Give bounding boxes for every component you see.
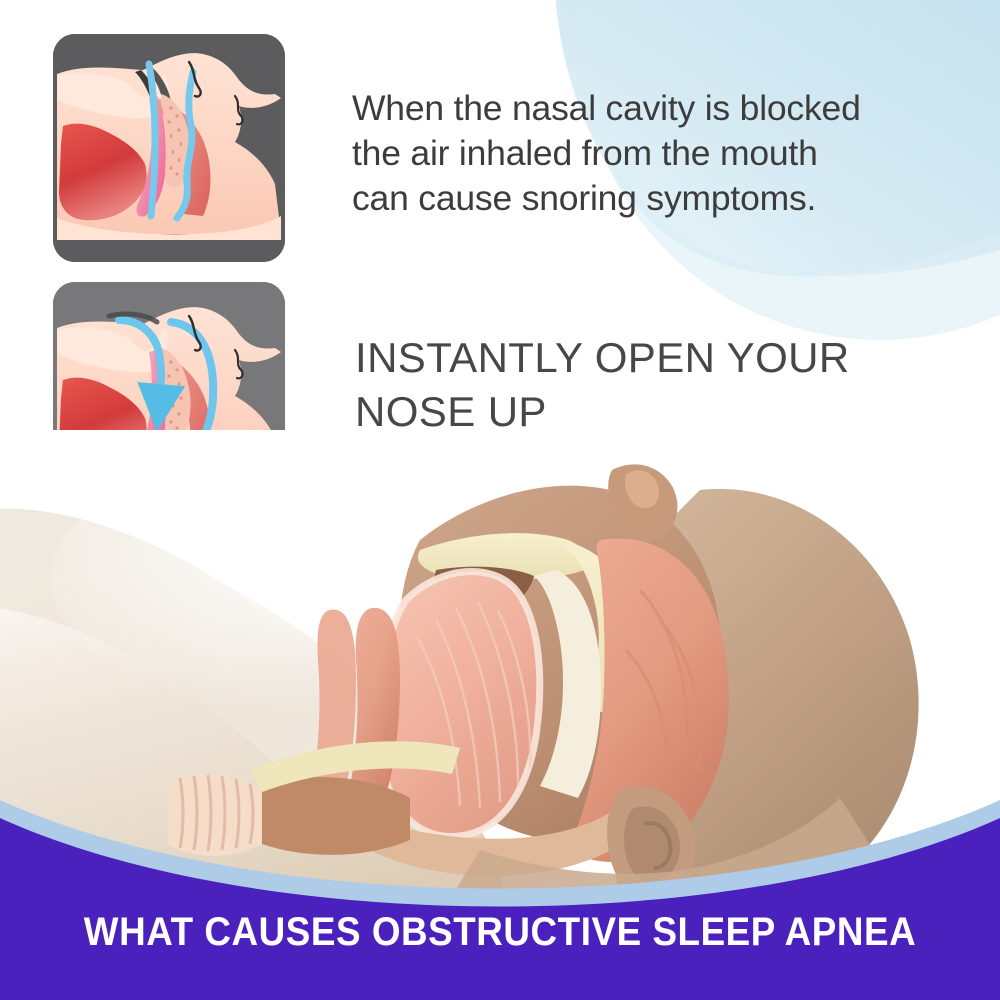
inset-card-blocked-nasal-airway[interactable] — [53, 34, 285, 262]
headline-instantly-open-nose: INSTANTLY OPEN YOUR NOSE UP — [355, 331, 965, 439]
bottom-banner: WHAT CAUSES OBSTRUCTIVE SLEEP APNEA — [0, 800, 1000, 1000]
paragraph-line-1: When the nasal cavity is blocked — [352, 86, 952, 131]
poster-root: When the nasal cavity is blocked the air… — [0, 0, 1000, 1000]
banner-shape-svg — [0, 800, 1000, 1000]
paragraph-line-2: the air inhaled from the mouth — [352, 131, 952, 176]
headline-line-1: INSTANTLY OPEN YOUR — [355, 331, 965, 385]
banner-title: WHAT CAUSES OBSTRUCTIVE SLEEP APNEA — [40, 910, 960, 955]
banner-purple-body — [0, 818, 1000, 1000]
paragraph-line-3: can cause snoring symptoms. — [352, 176, 952, 221]
snoring-explanation-paragraph: When the nasal cavity is blocked the air… — [352, 86, 952, 221]
blocked-nasal-airway-svg — [53, 34, 285, 262]
